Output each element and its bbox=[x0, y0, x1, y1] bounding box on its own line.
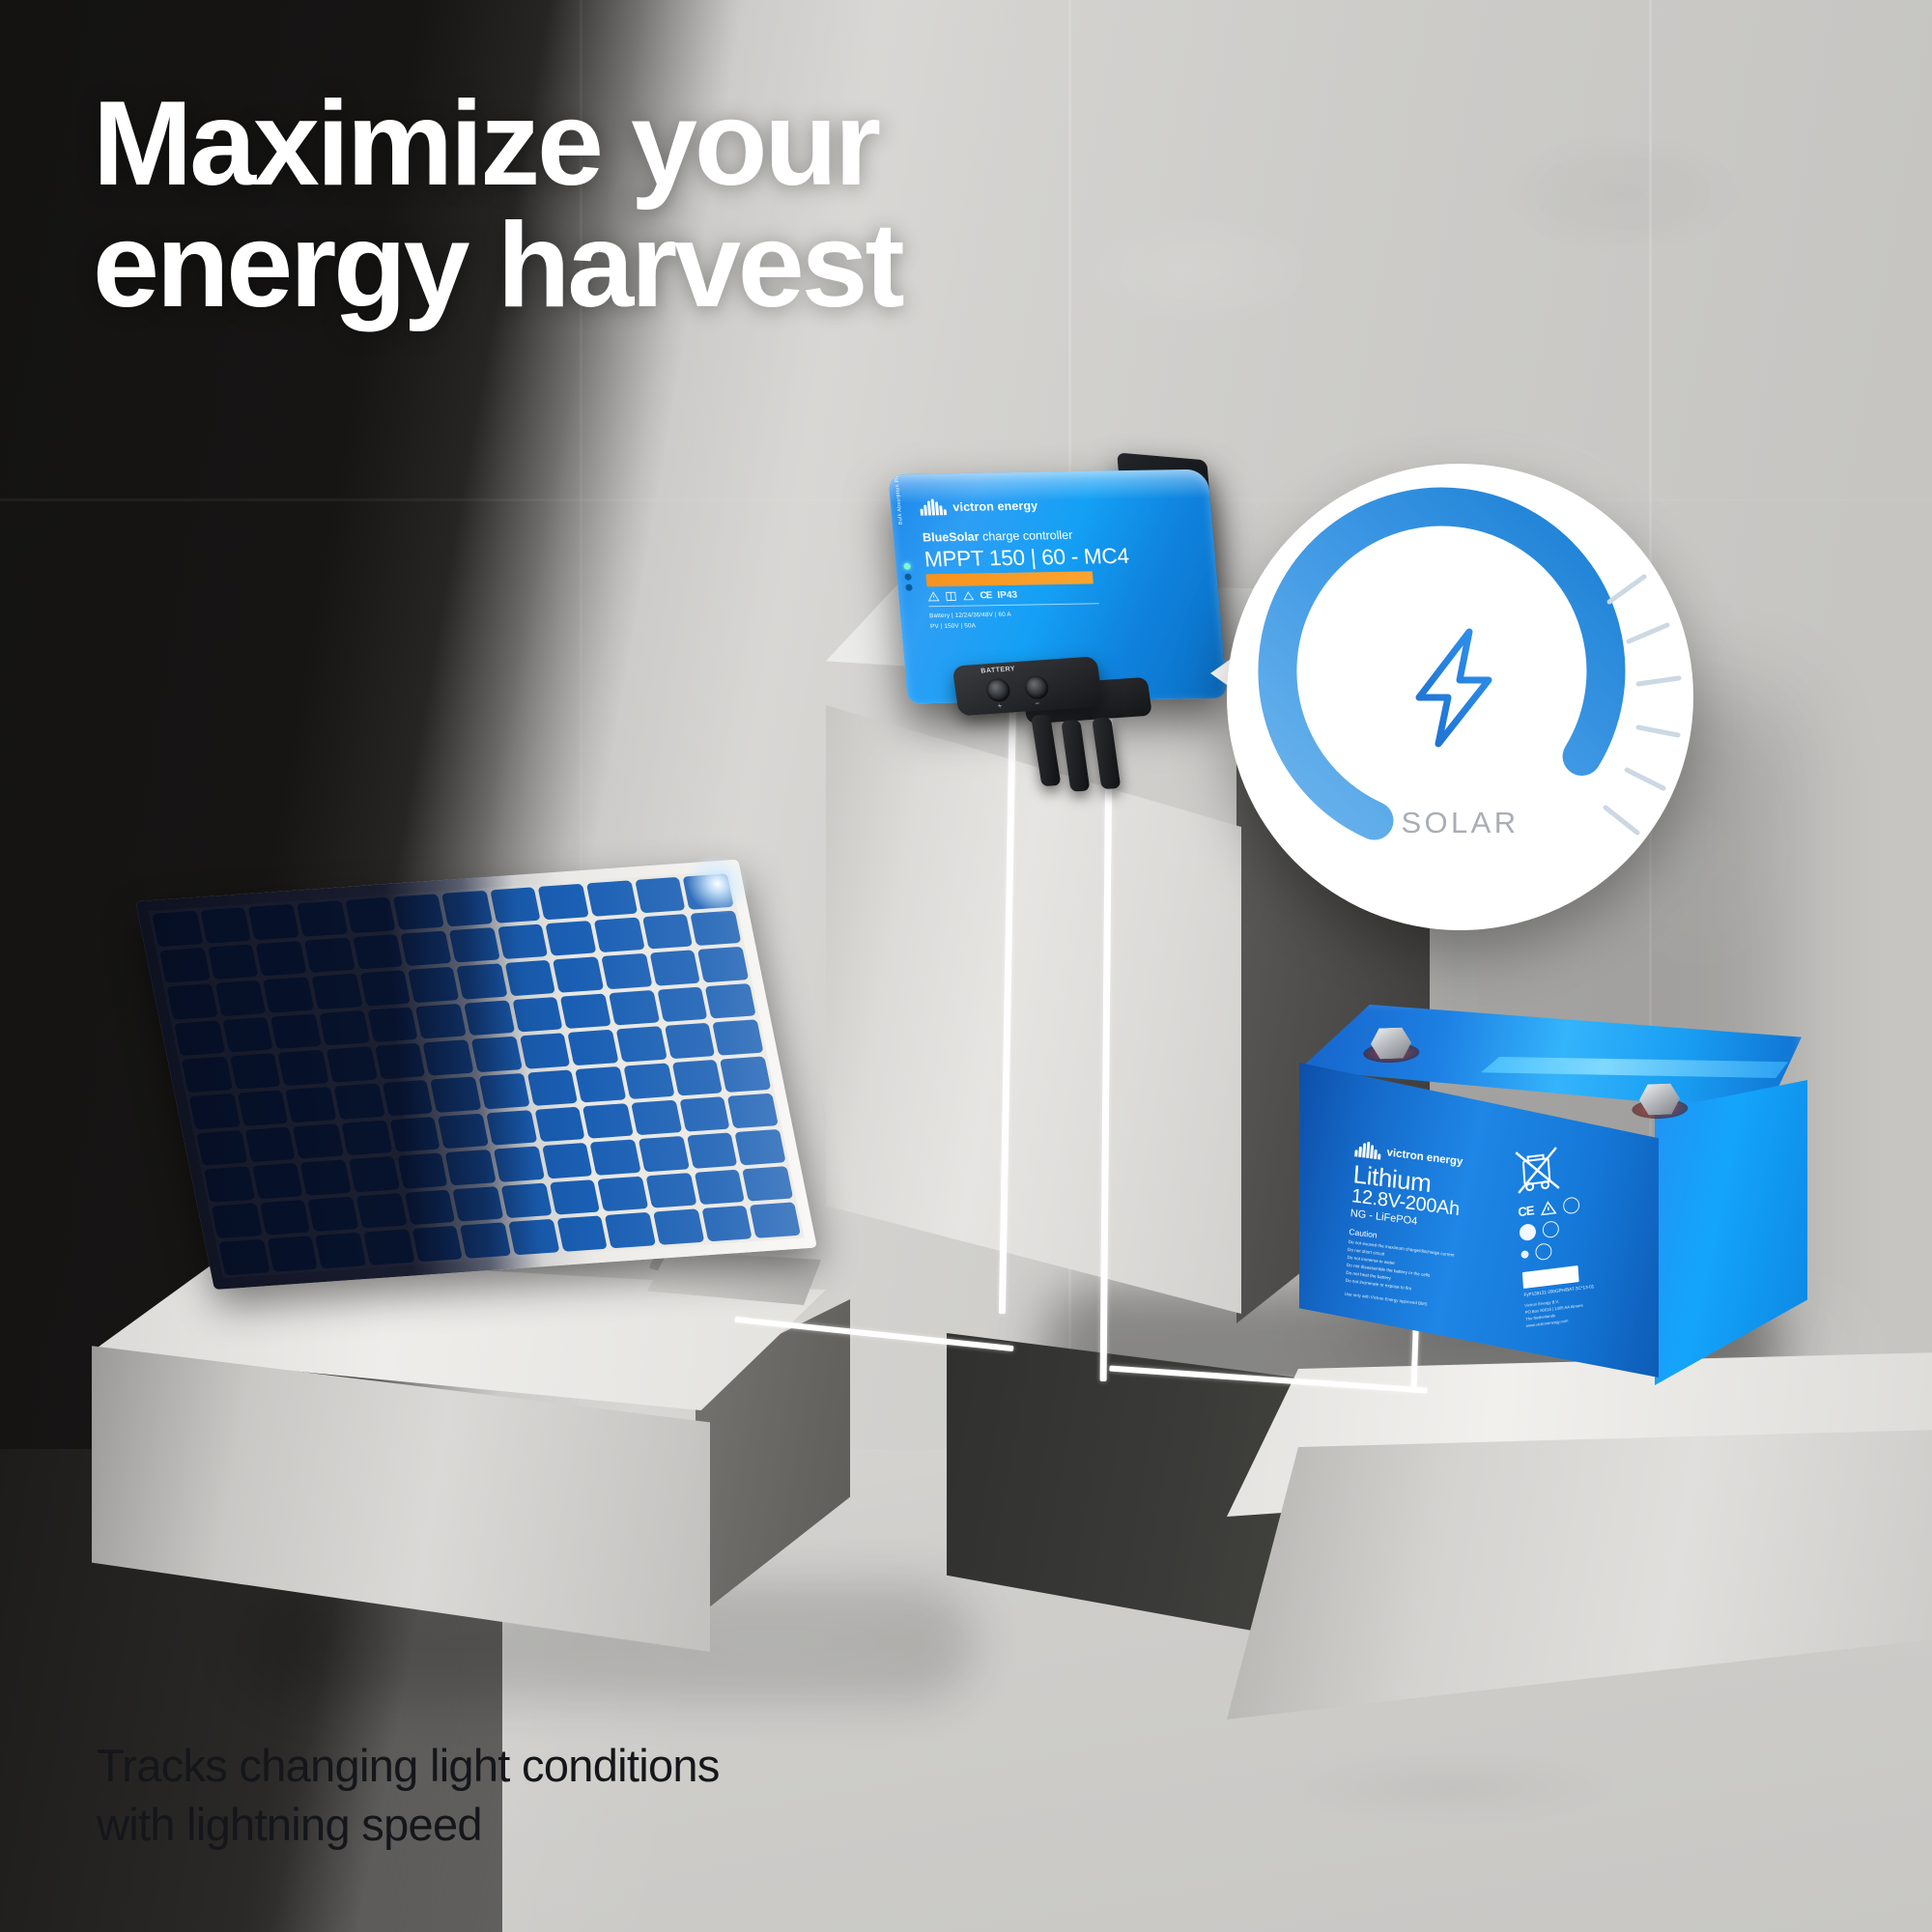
lithium-battery: victron energy Lithium 12.8V-200Ah NG - … bbox=[1299, 1005, 1811, 1381]
solar-cell bbox=[412, 1226, 463, 1262]
battery-terminal-label: BATTERY bbox=[980, 666, 1016, 674]
solar-cell bbox=[445, 1150, 497, 1185]
solar-cell bbox=[713, 1020, 764, 1056]
solar-cell bbox=[182, 1057, 233, 1093]
solar-cell bbox=[616, 1027, 668, 1063]
solar-cell bbox=[304, 937, 355, 973]
solar-cell bbox=[720, 1056, 771, 1092]
battery-terminal-negative bbox=[1638, 1083, 1680, 1115]
solar-cell bbox=[278, 1050, 329, 1086]
controller-cert-row: CE IP43 bbox=[927, 587, 1171, 602]
solar-cell bbox=[453, 1186, 504, 1222]
solar-cell bbox=[546, 921, 597, 956]
ce-mark-icon: CE bbox=[1518, 1203, 1534, 1219]
solar-cell bbox=[415, 1004, 467, 1039]
solar-cell bbox=[375, 1043, 426, 1079]
solar-cell bbox=[263, 977, 314, 1012]
solar-panel-frame bbox=[135, 860, 817, 1290]
solar-cell bbox=[490, 887, 541, 923]
solar-cell bbox=[363, 1230, 414, 1265]
solar-cell bbox=[550, 1179, 601, 1215]
solar-cell bbox=[742, 1166, 793, 1202]
ce-mark-icon: CE bbox=[980, 591, 992, 602]
solar-cell bbox=[526, 1069, 578, 1105]
solar-cell bbox=[356, 1193, 408, 1229]
solar-cell bbox=[167, 983, 218, 1019]
solar-cell bbox=[189, 1094, 241, 1129]
solar-cell bbox=[534, 1106, 585, 1142]
headline-line-2: energy harvest bbox=[93, 205, 1233, 327]
solar-cell bbox=[214, 980, 266, 1016]
solar-cell bbox=[230, 1054, 281, 1090]
solar-cell bbox=[631, 1099, 682, 1135]
controller-status-leds bbox=[903, 563, 913, 591]
caution-triangle-icon bbox=[962, 591, 975, 602]
solar-cell bbox=[293, 1123, 344, 1159]
solar-cell bbox=[244, 1126, 296, 1162]
terminal-minus-sign: − bbox=[1035, 699, 1040, 708]
solar-cell bbox=[297, 900, 348, 936]
headline: Maximize your energy harvest bbox=[93, 83, 1233, 327]
no-smoking-icon bbox=[1542, 1220, 1559, 1238]
controller-faceplate: victron energy BlueSolar charge controll… bbox=[920, 495, 1174, 631]
solar-cell bbox=[508, 1219, 559, 1255]
solar-cell bbox=[635, 877, 686, 913]
solar-cell bbox=[586, 880, 638, 916]
controller-ip-rating: IP43 bbox=[997, 590, 1018, 601]
solar-cell bbox=[512, 997, 563, 1033]
solar-cell bbox=[575, 1066, 626, 1102]
solar-cell bbox=[679, 1096, 730, 1132]
solar-cell bbox=[252, 1163, 303, 1199]
solar-cell bbox=[260, 1200, 311, 1236]
solar-cell bbox=[623, 1063, 674, 1098]
lightning-bolt-icon bbox=[1400, 626, 1508, 750]
solar-cell bbox=[683, 873, 734, 909]
solar-cell bbox=[208, 944, 259, 980]
solar-cell bbox=[590, 1140, 641, 1176]
terminal-plus-sign: + bbox=[997, 701, 1003, 710]
solar-panel-cell-grid bbox=[149, 870, 805, 1278]
solar-cell bbox=[671, 1060, 723, 1095]
solar-cell bbox=[248, 904, 299, 940]
solar-cell bbox=[345, 897, 396, 933]
solar-cell bbox=[649, 950, 700, 985]
victron-mark-icon bbox=[1354, 1140, 1381, 1159]
controller-model: MPPT 150 | 60 - MC4 bbox=[923, 544, 1168, 571]
solar-cell bbox=[639, 1136, 690, 1172]
solar-cell bbox=[582, 1103, 634, 1139]
solar-cell bbox=[697, 947, 749, 982]
solar-cell bbox=[397, 1153, 448, 1189]
solar-cell bbox=[222, 1017, 273, 1053]
headline-line-1: Maximize your bbox=[93, 83, 1233, 205]
solar-cell bbox=[315, 1233, 366, 1268]
no-fire-icon bbox=[1563, 1196, 1580, 1214]
solar-cell bbox=[430, 1076, 481, 1112]
solar-cell bbox=[597, 1176, 648, 1211]
solar-cell bbox=[393, 894, 444, 929]
led-absorption bbox=[904, 574, 912, 581]
solar-cell bbox=[553, 956, 604, 992]
solar-cell bbox=[286, 1087, 337, 1122]
battery-label: victron energy Lithium 12.8V-200Ah NG - … bbox=[1345, 1140, 1510, 1316]
solar-cell bbox=[560, 993, 611, 1029]
solar-cell bbox=[238, 1090, 289, 1125]
solar-cell bbox=[204, 1167, 255, 1203]
solar-cell bbox=[653, 1209, 704, 1245]
solar-cell bbox=[568, 1030, 619, 1065]
solar-cell bbox=[504, 960, 555, 996]
victron-brand-text: victron energy bbox=[952, 498, 1038, 513]
no-entry-icon bbox=[1535, 1242, 1552, 1261]
battery-barcode-block bbox=[1522, 1265, 1579, 1289]
solar-cell bbox=[501, 1182, 553, 1218]
solar-cell bbox=[159, 948, 211, 983]
solar-cell bbox=[408, 967, 459, 1003]
solar-cell bbox=[456, 963, 507, 999]
solar-cell bbox=[341, 1120, 392, 1155]
controller-battery-terminal-block: BATTERY + − bbox=[952, 656, 1104, 716]
solar-cell bbox=[308, 1196, 359, 1232]
solar-cell bbox=[256, 941, 307, 977]
victron-logo: victron energy bbox=[920, 495, 1163, 515]
warning-triangle-icon bbox=[927, 592, 940, 603]
solar-cell bbox=[367, 1007, 418, 1042]
warning-triangle-icon bbox=[1540, 1199, 1557, 1217]
solar-cell bbox=[735, 1129, 786, 1165]
solar-cell bbox=[267, 1236, 318, 1272]
solar-cell bbox=[389, 1117, 440, 1152]
led-float bbox=[905, 584, 913, 591]
solar-cell bbox=[382, 1080, 433, 1116]
wee-crossed-bin-icon bbox=[1514, 1144, 1561, 1199]
solar-cell bbox=[556, 1216, 608, 1252]
solar-cell bbox=[349, 1156, 400, 1192]
controller-product-type: charge controller bbox=[981, 528, 1073, 544]
controller-divider bbox=[928, 604, 1098, 608]
victron-mark-icon bbox=[920, 498, 948, 515]
subtext-line-1: Tracks changing light conditions bbox=[97, 1736, 1207, 1795]
solar-cell bbox=[152, 911, 203, 947]
solar-cell bbox=[494, 1147, 545, 1182]
solar-cell bbox=[727, 1093, 779, 1128]
solar-gauge-badge[interactable]: SOLAR bbox=[1210, 464, 1693, 947]
solar-cell bbox=[218, 1239, 270, 1275]
manual-book-icon bbox=[945, 591, 957, 602]
solar-cell bbox=[605, 1212, 656, 1248]
solar-cell bbox=[200, 907, 251, 943]
solar-cell bbox=[196, 1130, 247, 1166]
solar-cell bbox=[334, 1083, 385, 1119]
controller-product-line-bold: BlueSolar bbox=[922, 530, 980, 545]
controller-product-line: BlueSolar charge controller bbox=[923, 527, 1166, 545]
solar-cell bbox=[327, 1047, 378, 1083]
badge-label: SOLAR bbox=[1227, 806, 1693, 840]
particle-icon bbox=[1520, 1250, 1529, 1259]
solar-cell bbox=[486, 1110, 537, 1146]
solar-cell bbox=[353, 934, 404, 970]
solar-cell bbox=[405, 1189, 456, 1225]
battery-terminal-port-negative bbox=[1024, 675, 1050, 700]
solar-cell bbox=[665, 1023, 716, 1059]
subtext: Tracks changing light conditions with li… bbox=[97, 1736, 1207, 1854]
solar-cell bbox=[705, 983, 756, 1019]
mppt-charge-controller: Bulk Absorption Float bbox=[888, 469, 1227, 704]
battery-terminal-port-positive bbox=[985, 678, 1011, 703]
solar-cell bbox=[645, 1173, 696, 1208]
solar-cell bbox=[319, 1010, 370, 1046]
solar-cell bbox=[401, 930, 452, 966]
solar-cell bbox=[538, 884, 589, 920]
solar-cell bbox=[438, 1113, 489, 1149]
solar-cell bbox=[701, 1206, 753, 1241]
solar-cell bbox=[270, 1013, 322, 1049]
solar-cell bbox=[359, 970, 411, 1006]
solar-cell bbox=[449, 927, 500, 963]
solar-cell bbox=[694, 1169, 745, 1205]
solar-panel bbox=[135, 860, 817, 1290]
solar-cell bbox=[594, 917, 645, 952]
battery-side-face bbox=[1655, 1080, 1807, 1385]
solar-cell bbox=[423, 1040, 474, 1076]
solar-cell bbox=[520, 1034, 571, 1069]
solar-cell bbox=[441, 891, 493, 926]
subtext-line-2: with lightning speed bbox=[97, 1795, 1207, 1854]
solar-cell bbox=[311, 974, 362, 1009]
solar-cell bbox=[460, 1223, 511, 1259]
solar-cell bbox=[609, 990, 660, 1026]
solar-cell bbox=[657, 986, 708, 1022]
solar-cell bbox=[464, 1000, 515, 1036]
solar-cell bbox=[497, 923, 549, 959]
solar-cell bbox=[300, 1160, 352, 1196]
solar-cell bbox=[601, 953, 652, 989]
solar-cell bbox=[478, 1073, 529, 1109]
battery-terminal-positive bbox=[1370, 1027, 1411, 1059]
solar-cell bbox=[750, 1203, 801, 1238]
solar-cell bbox=[691, 910, 742, 946]
solar-cell bbox=[174, 1020, 225, 1056]
battery-symbol-panel: CE FyP139131-200GPH/BAT-3C*13-01 Victron… bbox=[1514, 1131, 1670, 1329]
solar-cell bbox=[542, 1143, 593, 1179]
controller-accent-bar bbox=[925, 572, 1094, 587]
dot-icon bbox=[1519, 1223, 1536, 1241]
promo-image: Bulk Absorption Float bbox=[0, 0, 1932, 1932]
solar-cell bbox=[212, 1203, 263, 1238]
solar-cell bbox=[471, 1037, 523, 1072]
solar-cell bbox=[642, 914, 694, 950]
led-bulk bbox=[903, 563, 911, 570]
solar-cell bbox=[687, 1133, 738, 1169]
